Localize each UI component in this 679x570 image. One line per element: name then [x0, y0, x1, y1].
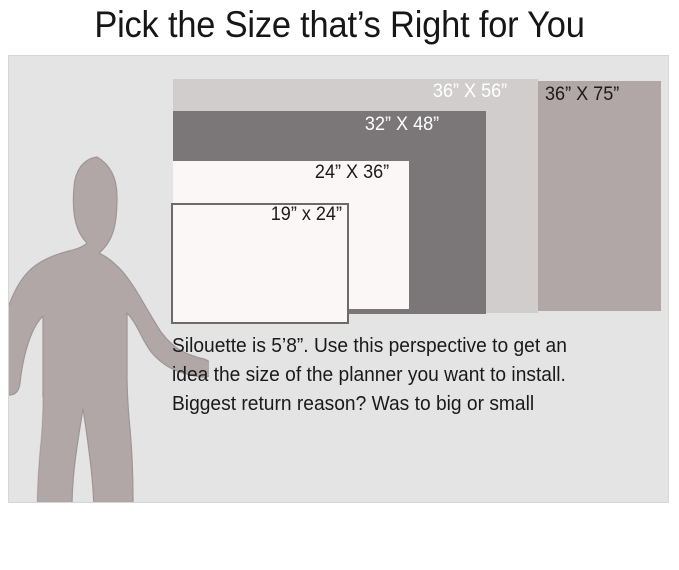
size-rect-36x75	[538, 81, 661, 311]
size-label-19x24: 19” x 24”	[271, 204, 342, 226]
size-label-24x36: 24” X 36”	[315, 162, 389, 184]
caption-line-1: Silouette is 5’8”. Use this perspective …	[172, 332, 642, 361]
title-bar: Pick the Size that’s Right for You	[0, 0, 679, 52]
caption-text: Silouette is 5’8”. Use this perspective …	[172, 332, 642, 419]
page-title: Pick the Size that’s Right for You	[24, 2, 655, 48]
size-label-32x48: 32” X 48”	[365, 114, 439, 136]
caption-line-3: Biggest return reason? Was to big or sma…	[172, 390, 642, 419]
caption-line-2: idea the size of the planner you want to…	[172, 361, 642, 390]
size-comparison-graphic: Pick the Size that’s Right for You 36” X…	[0, 0, 679, 570]
size-label-36x56: 36” X 56”	[433, 81, 507, 103]
illustration-panel: 36” X 75” 36” X 56” 32” X 48” 24” X 36” …	[8, 55, 669, 503]
size-label-36x75: 36” X 75”	[545, 84, 619, 106]
